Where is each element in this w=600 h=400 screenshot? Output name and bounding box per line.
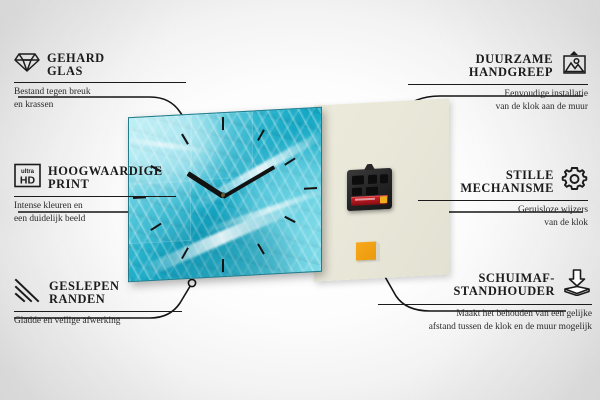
clock-tick-6 <box>222 259 224 272</box>
diamond-icon <box>14 50 40 79</box>
title-line-2: GLAS <box>47 65 83 78</box>
feature-rule <box>378 304 592 305</box>
feature-title-gehard-glas: GEHARD GLAS <box>47 52 105 78</box>
feature-stille-mechanisme: STILLE MECHANISME Geruisloze wijzers van… <box>418 166 588 230</box>
mechanism-battery <box>351 195 388 206</box>
feature-title-stille-mechanisme: STILLE MECHANISME <box>460 169 554 195</box>
feature-description-geslepen-randen: Gladde en veilige afwerking <box>14 315 182 328</box>
feature-description-schuimafstandhouder: Maakt het behouden van een gelijke afsta… <box>378 308 592 333</box>
mechanism-slot-d <box>352 187 362 196</box>
feature-title-geslepen-randen: GESLEPEN RANDEN <box>49 280 120 306</box>
ultra-hd-icon: ultra HD <box>14 163 41 193</box>
feature-rule <box>14 311 182 312</box>
picture-frame-icon <box>560 50 588 81</box>
feature-description-hoogwaardige-print: Intense kleuren en een duidelijk beeld <box>14 200 176 225</box>
title-line-1: STILLE <box>506 169 554 182</box>
svg-text:HD: HD <box>20 175 36 187</box>
clock-tick-12 <box>222 117 224 130</box>
feature-rule <box>14 82 186 83</box>
feature-rule <box>408 84 588 85</box>
press-down-pad-icon <box>562 268 592 301</box>
infographic-canvas: GEHARD GLAS Bestand tegen breuk en krass… <box>0 0 600 400</box>
feature-gehard-glas: GEHARD GLAS Bestand tegen breuk en krass… <box>14 50 186 112</box>
feature-rule <box>14 196 176 197</box>
gear-icon <box>561 166 588 197</box>
title-line-2: MECHANISME <box>460 182 554 195</box>
title-line-2: PRINT <box>48 178 89 191</box>
feature-schuimafstandhouder: SCHUIMAF- STANDHOUDER Maakt het behouden… <box>378 268 592 334</box>
title-line-1: SCHUIMAF- <box>478 272 555 285</box>
title-line-1: GEHARD <box>47 52 105 65</box>
feature-hoogwaardige-print: ultra HD HOOGWAARDIGE PRINT Intense kleu… <box>14 163 176 226</box>
mechanism-slot-c <box>380 174 388 183</box>
feature-description-duurzame-handgreep: Eenvoudige installatie van de klok aan d… <box>408 88 588 113</box>
foam-spacer <box>356 241 376 260</box>
foam-spacer-side <box>376 243 380 261</box>
feature-title-schuimafstandhouder: SCHUIMAF- STANDHOUDER <box>453 272 555 298</box>
feature-rule <box>418 200 588 201</box>
mechanism-slot-e <box>366 187 378 196</box>
feature-description-stille-mechanisme: Geruisloze wijzers van de klok <box>418 204 588 229</box>
battery-positive-terminal <box>380 196 387 203</box>
feature-duurzame-handgreep: DUURZAME HANDGREEP Eenvoudige installati… <box>408 50 588 114</box>
feature-title-hoogwaardige-print: HOOGWAARDIGE PRINT <box>48 165 163 191</box>
feature-geslepen-randen: GESLEPEN RANDEN Gladde en veilige afwerk… <box>14 278 182 328</box>
title-line-2: STANDHOUDER <box>453 285 555 298</box>
title-line-2: HANDGREEP <box>469 66 553 79</box>
mechanism-slot-a <box>352 175 364 185</box>
feature-description-gehard-glas: Bestand tegen breuk en krassen <box>14 86 186 111</box>
title-line-1: DUURZAME <box>476 53 553 66</box>
title-line-2: RANDEN <box>49 293 105 306</box>
diagonal-lines-icon <box>14 278 42 308</box>
clock-mechanism <box>347 168 392 211</box>
battery-label-stripe <box>355 198 375 201</box>
feature-title-duurzame-handgreep: DUURZAME HANDGREEP <box>469 53 553 79</box>
mechanism-slot-b <box>368 175 377 184</box>
